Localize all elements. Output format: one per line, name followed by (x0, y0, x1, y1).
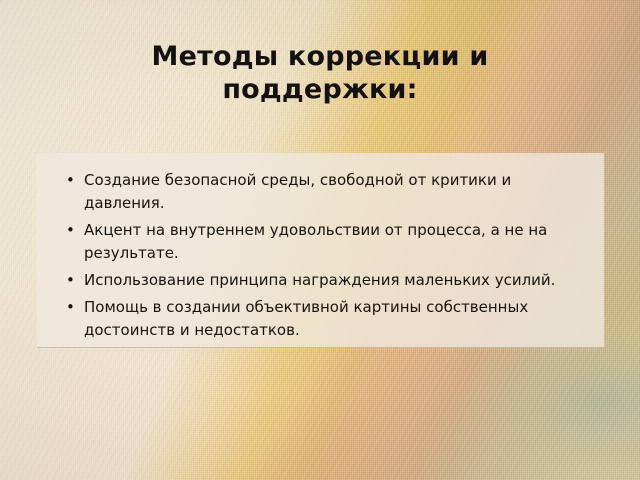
bullet-text: Помощь в создании объективной картины со… (84, 296, 582, 342)
bullet-list: • Создание безопасной среды, свободной о… (53, 169, 582, 342)
bullet-point-icon: • (66, 219, 75, 242)
list-item: • Акцент на внутреннем удовольствии от п… (53, 219, 582, 265)
slide-title-line-2: поддержки: (40, 73, 600, 106)
slide-title: Методы коррекции и поддержки: (0, 40, 640, 106)
bullet-point-icon: • (66, 269, 75, 292)
bullet-point-icon: • (66, 296, 75, 319)
list-item: • Создание безопасной среды, свободной о… (53, 169, 582, 215)
bullet-point-icon: • (66, 169, 75, 192)
bullet-text: Создание безопасной среды, свободной от … (84, 169, 582, 215)
bullet-text: Использование принципа награждения мален… (84, 269, 582, 292)
bullet-text: Акцент на внутреннем удовольствии от про… (84, 219, 582, 265)
list-item: • Использование принципа награждения мал… (53, 269, 582, 292)
content-panel: • Создание безопасной среды, свободной о… (37, 153, 604, 348)
presentation-slide: Методы коррекции и поддержки: • Создание… (0, 0, 640, 480)
list-item: • Помощь в создании объективной картины … (53, 296, 582, 342)
slide-title-line-1: Методы коррекции и (40, 40, 600, 73)
